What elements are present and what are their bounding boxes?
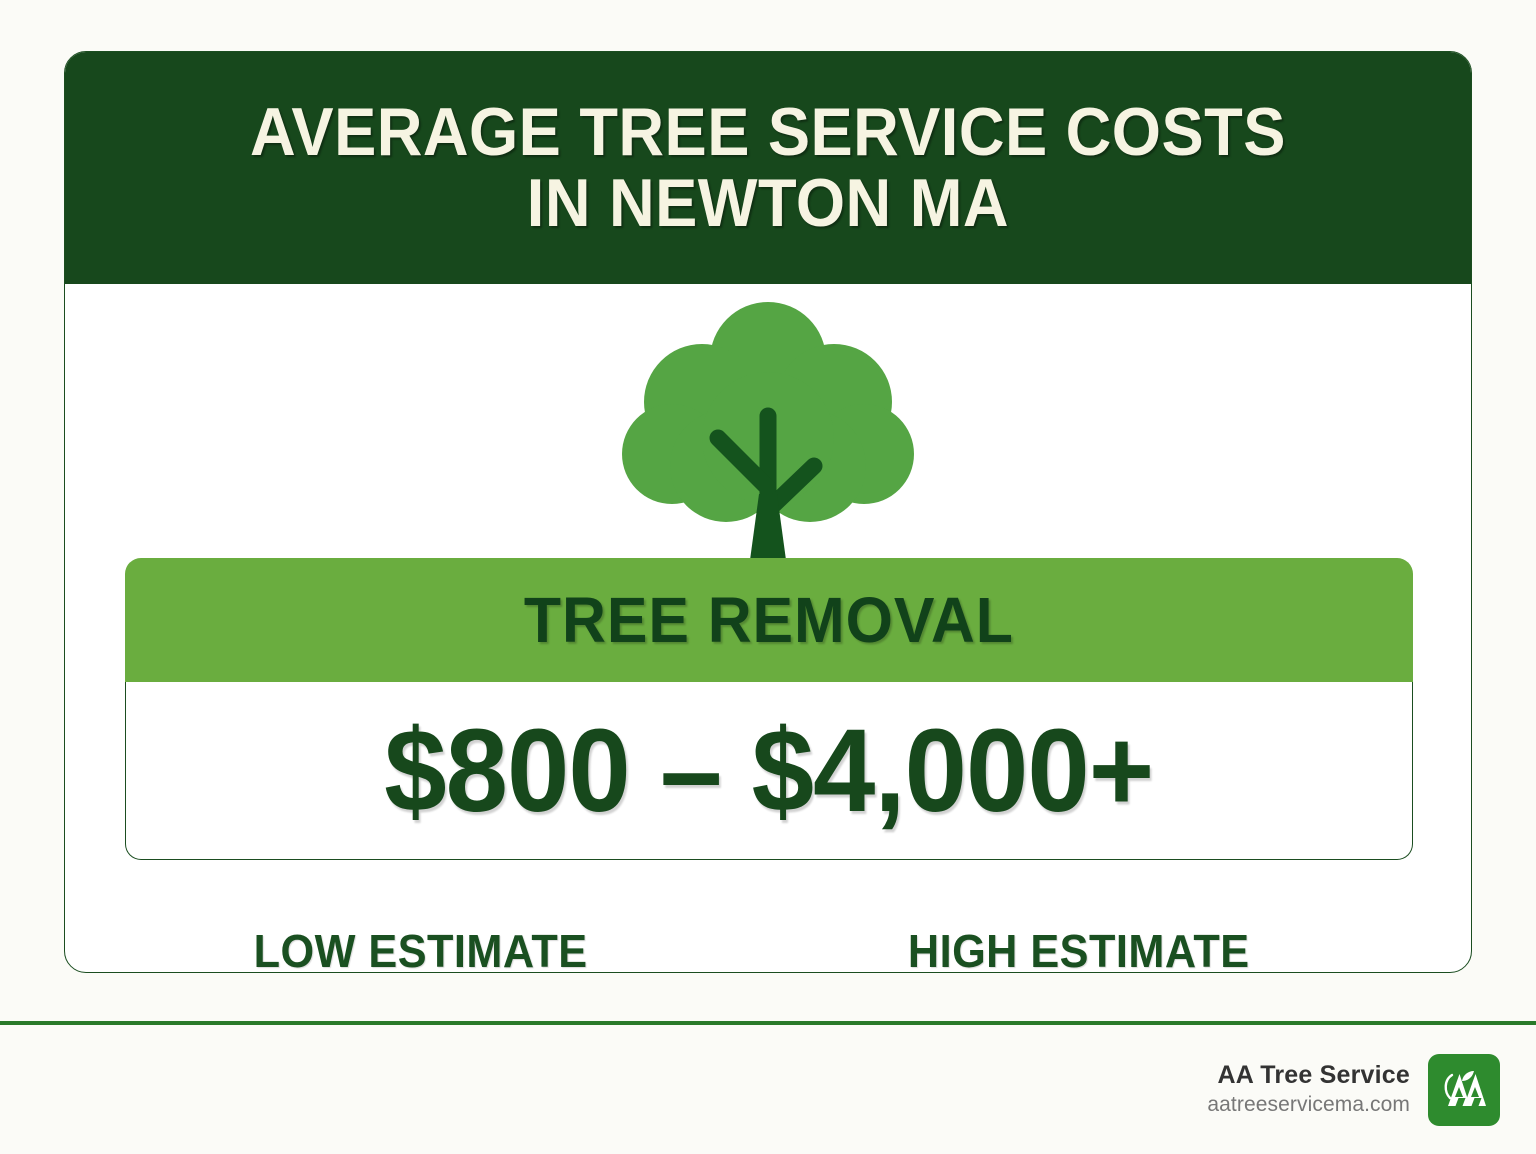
brand-name: AA Tree Service [1207,1060,1410,1091]
tree-icon [618,298,918,588]
aa-tree-service-logo[interactable] [1428,1054,1500,1126]
price-module: TREE REMOVAL $800 – $4,000+ [125,558,1413,860]
page-title: AVERAGE TREE SERVICE COSTS IN NEWTON MA [250,97,1286,238]
estimate-captions: LOW ESTIMATE HIGH ESTIMATE [125,924,1413,973]
low-estimate-label: LOW ESTIMATE [254,924,588,973]
service-label-bar: TREE REMOVAL [125,558,1413,682]
header-banner: AVERAGE TREE SERVICE COSTS IN NEWTON MA [65,52,1471,284]
footer-bar: AA Tree Service aatreeservicema.com [0,1025,1536,1154]
infographic-card: AVERAGE TREE SERVICE COSTS IN NEWTON MA [64,51,1472,973]
price-range-value: $800 – $4,000+ [384,712,1153,830]
service-label: TREE REMOVAL [524,583,1014,657]
price-box: $800 – $4,000+ [125,682,1413,860]
brand-url[interactable]: aatreeservicema.com [1207,1091,1410,1118]
footer-brand-text: AA Tree Service aatreeservicema.com [1207,1060,1410,1119]
high-estimate-label: HIGH ESTIMATE [908,924,1250,973]
